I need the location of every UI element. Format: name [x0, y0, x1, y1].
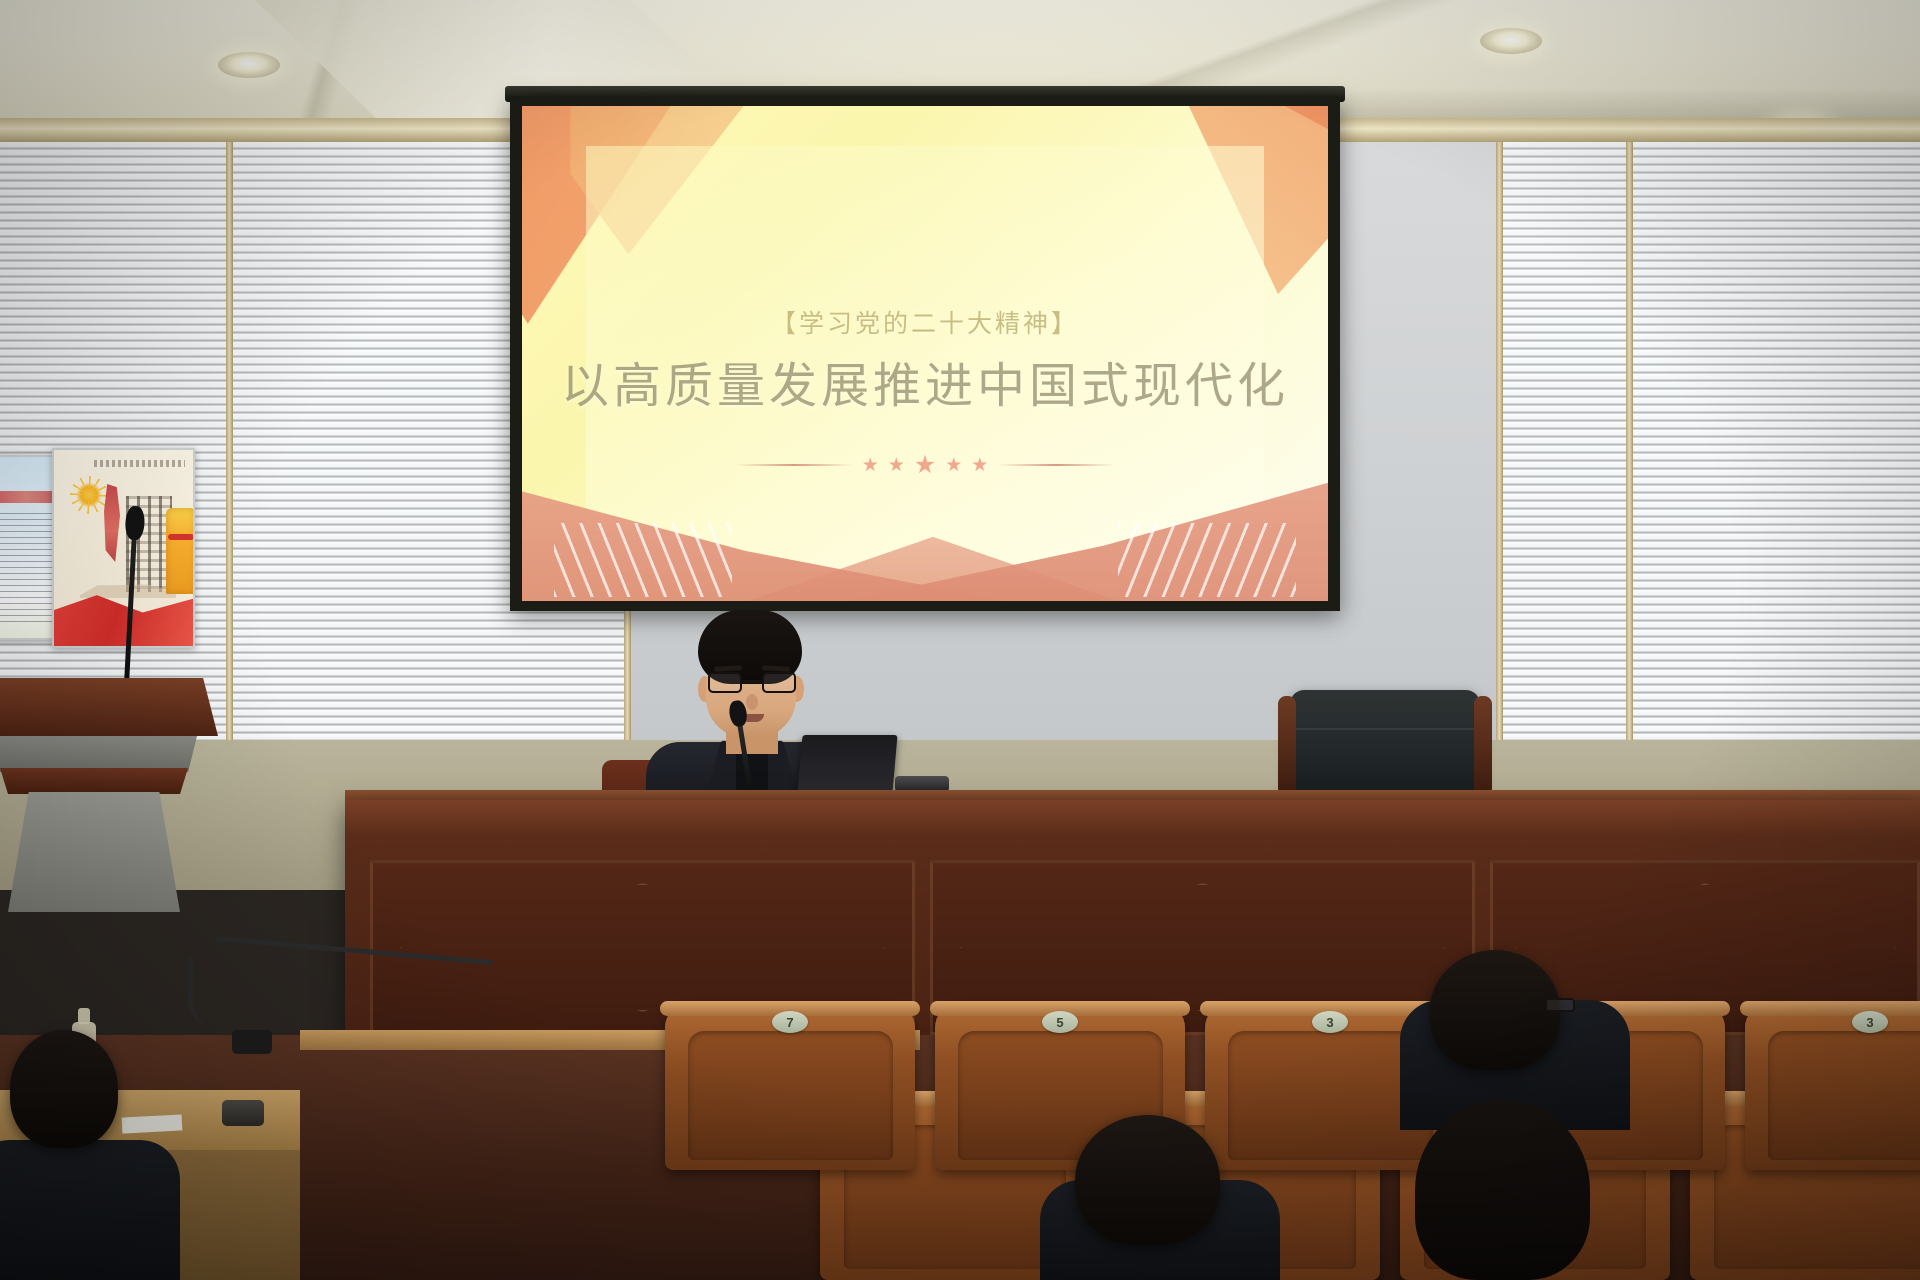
seat-number-badge: 5: [1042, 1011, 1078, 1033]
louver-divider: [1496, 118, 1503, 778]
seat-number-badge: 3: [1852, 1011, 1888, 1033]
conference-room-photo: 【学习党的二十大精神】 以高质量发展推进中国式现代化 ★ ★ ★ ★ ★: [0, 0, 1920, 1280]
poster-text-lines: [0, 513, 52, 623]
empty-executive-chair: [1290, 690, 1480, 802]
poster-title-band: [0, 491, 54, 503]
audience-member-head: [1430, 950, 1560, 1070]
audience-member-shoulders: [0, 1140, 180, 1280]
seat-back-pad: [1768, 1031, 1920, 1160]
projection-screen-frame: 【学习党的二十大精神】 以高质量发展推进中国式现代化 ★ ★ ★ ★ ★: [510, 96, 1340, 611]
lectern-neck: [0, 736, 206, 772]
louver-divider: [226, 118, 233, 778]
recessed-downlight-icon: [1480, 28, 1542, 54]
panel-diamond-inlay: [1514, 883, 1896, 1011]
glasses-bridge: [742, 680, 762, 683]
auditorium-seat[interactable]: 7: [665, 1005, 915, 1170]
poster-header-text: [94, 460, 185, 467]
panel-diamond-inlay: [960, 883, 1445, 1011]
blue-notice-poster: [0, 455, 54, 640]
lectern-base: [8, 792, 180, 912]
slide-subtitle: 【学习党的二十大精神】: [522, 304, 1328, 340]
recessed-downlight-icon: [218, 52, 280, 78]
audience-member-head: [10, 1030, 118, 1148]
nose: [746, 694, 758, 710]
power-cable: [188, 958, 222, 1028]
chair-seam: [1296, 728, 1474, 730]
ray-lines-graphic: [554, 523, 731, 598]
glasses-icon: [1545, 998, 1575, 1012]
audience-member-head: [1075, 1115, 1220, 1245]
slide-title: 以高质量发展推进中国式现代化: [522, 346, 1328, 416]
glasses-icon: [706, 672, 798, 694]
seat-number-badge: 7: [772, 1011, 808, 1033]
sun-icon: [76, 482, 102, 508]
paper-sheet: [122, 1114, 183, 1133]
lens-left: [708, 672, 742, 693]
louver-divider: [1626, 118, 1633, 778]
panel-diamond-inlay: [400, 883, 885, 1011]
lectern-band: [0, 768, 194, 794]
cup: [222, 1100, 264, 1126]
torch-icon: [166, 508, 195, 594]
ray-lines-graphic: [1118, 523, 1295, 598]
louver-panel: [1630, 118, 1920, 778]
audience-member-long-hair: [1415, 1100, 1590, 1280]
seat-rail: [1740, 1001, 1920, 1016]
calligraphy-mark: [104, 484, 120, 562]
auditorium-seat[interactable]: 3: [1745, 1005, 1920, 1170]
projection-screen: 【学习党的二十大精神】 以高质量发展推进中国式现代化 ★ ★ ★ ★ ★: [522, 106, 1328, 601]
slide-hill-graphics: [522, 423, 1328, 601]
seat-number-badge: 3: [1312, 1011, 1348, 1033]
red-party-theme-poster: [52, 448, 195, 648]
louver-panel: [1500, 118, 1630, 778]
lens-right: [762, 672, 796, 693]
floor-power-box: [232, 1030, 272, 1054]
laptop: [797, 735, 897, 793]
lectern-top: [0, 678, 218, 736]
seat-back-pad: [688, 1031, 893, 1160]
